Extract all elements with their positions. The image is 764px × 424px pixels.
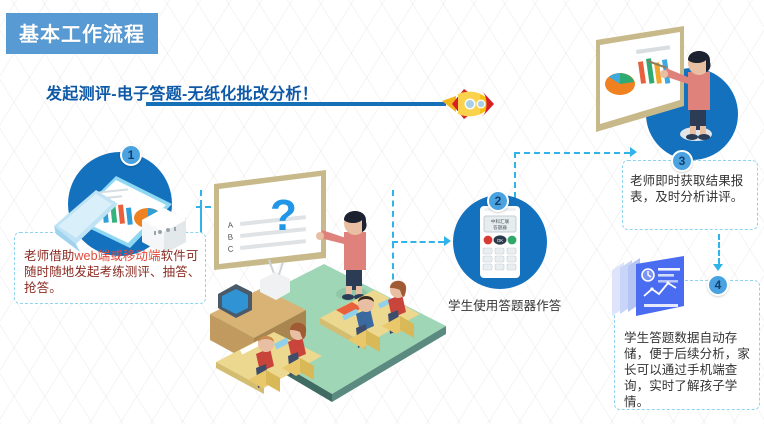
board-option-b: B	[227, 232, 233, 242]
step-badge-2: 2	[487, 190, 509, 212]
teacher-whiteboard-chart-icon	[596, 22, 762, 164]
step-badge-3: 3	[671, 150, 693, 172]
board-question-mark: ?	[270, 191, 297, 240]
board-option-c: C	[227, 244, 234, 254]
page-title-banner: 基本工作流程	[6, 13, 158, 54]
connector-step3-to-step4	[718, 234, 720, 264]
note-text-step3: 老师即时获取结果报表，及时分析讲评。	[630, 173, 750, 205]
note-text-step1: 老师借助web端或移动端软件可随时随地发起考练测评、抽答、抢答。	[24, 248, 202, 296]
clicker-screen-line2: 答题器	[493, 224, 507, 231]
clicker-ok-label: OK	[497, 238, 503, 243]
slide-canvas: 基本工作流程 发起测评-电子答题-无纸化批改分析！	[0, 0, 764, 424]
connector-arrow-to-step4	[713, 264, 723, 271]
note-text-step2: 学生使用答题器作答	[448, 298, 628, 314]
clicker-screen-line1: 中科汇联	[491, 218, 510, 225]
rocket-trail-line	[146, 102, 446, 106]
note-step1-highlight: web端或移动端	[74, 249, 160, 263]
step-badge-4: 4	[707, 274, 729, 296]
page-title: 基本工作流程	[19, 18, 145, 47]
step-badge-1: 1	[120, 144, 142, 166]
note-step1-prefix: 老师借助	[24, 249, 74, 263]
report-cards-icon	[606, 250, 700, 326]
rocket-icon	[440, 83, 496, 125]
page-subtitle: 发起测评-电子答题-无纸化批改分析！	[46, 80, 318, 104]
classroom-illustration: A B C ?	[196, 168, 456, 418]
laptop-chart-icon	[46, 152, 196, 260]
note-text-step4: 学生答题数据自动存储，便于后续分析，家长可以通过手机端查询，实时了解孩子学情。	[624, 330, 752, 410]
